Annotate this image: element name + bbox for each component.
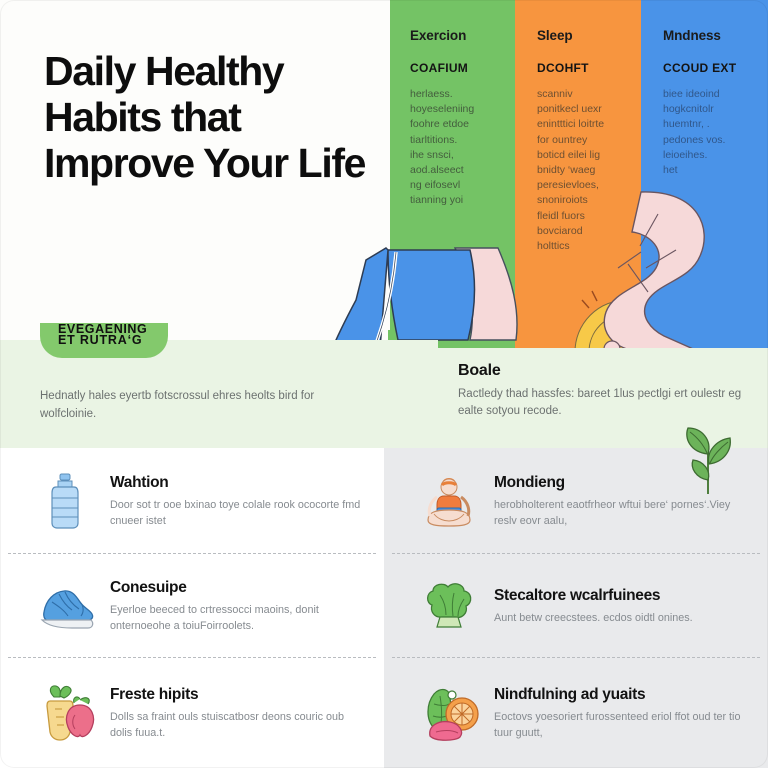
vegetables-citrus-icon — [418, 682, 480, 744]
list-item-text: Stecaltore wcalrfuinees Aunt betw creecs… — [494, 587, 750, 626]
list-item-heading: Conesuipe — [110, 579, 366, 597]
list-item[interactable]: Wahtion Door sot tr ooe bxinao toye cola… — [0, 448, 384, 554]
list-item-body: Eoctovs yoesoriert furossenteed eriol ff… — [494, 709, 750, 741]
card-body: Ractledy thad hassfes: bareet 1lus pectl… — [458, 386, 750, 420]
water-bottle-icon — [34, 470, 96, 532]
list-item[interactable]: Conesuipe Eyerloe beeced to crtressocci … — [0, 554, 384, 658]
meditating-person-icon — [418, 470, 480, 532]
leaf-sprig-icon — [678, 420, 738, 494]
list-item-heading: Stecaltore wcalrfuinees — [494, 587, 750, 605]
highlight-band-body: Hednatly hales eyertb fotscrossul ehres … — [40, 387, 370, 423]
habits-grid: Wahtion Door sot tr ooe bxinao toye cola… — [0, 448, 768, 768]
list-item-body: Aunt betw creecstees. ecdos oidtl onines… — [494, 610, 750, 626]
list-item-heading: Wahtion — [110, 474, 366, 492]
list-item-text: Wahtion Door sot tr ooe bxinao toye cola… — [110, 474, 366, 529]
badge-top-label: EVEGAENING — [58, 322, 147, 336]
list-item-text: Conesuipe Eyerloe beeced to crtressocci … — [110, 579, 366, 634]
list-item-body: Door sot tr ooe bxinao toye colale rook … — [110, 497, 366, 529]
list-item-body: Eyerloe beeced to crtressocci maoins, do… — [110, 602, 366, 634]
list-item[interactable]: Freste hipits Dolls sa fraint ouls stuis… — [0, 658, 384, 768]
arm-shape — [604, 192, 704, 352]
sneaker-icon — [34, 575, 96, 637]
broccoli-icon — [418, 575, 480, 637]
list-item-body: herobholterent eaotfrheor wftui bere‘ po… — [494, 497, 750, 529]
list-item-body: Dolls sa fraint ouls stuiscatbosr deons … — [110, 709, 366, 741]
list-item[interactable]: Nindfulning ad yuaits Eoctovs yoesoriert… — [384, 658, 768, 768]
infographic-canvas: Exercion COAFIUM herlaess. hoyeseleniing… — [0, 0, 768, 768]
list-item[interactable]: Stecaltore wcalrfuinees Aunt betw creecs… — [384, 554, 768, 658]
card-heading: Boale — [458, 362, 750, 380]
carrot-apple-icon — [34, 682, 96, 744]
list-item-heading: Nindfulning ad yuaits — [494, 686, 750, 704]
list-item-heading: Freste hipits — [110, 686, 366, 704]
list-item-text: Freste hipits Dolls sa fraint ouls stuis… — [110, 686, 366, 741]
list-item-text: Nindfulning ad yuaits Eoctovs yoesoriert… — [494, 686, 750, 741]
